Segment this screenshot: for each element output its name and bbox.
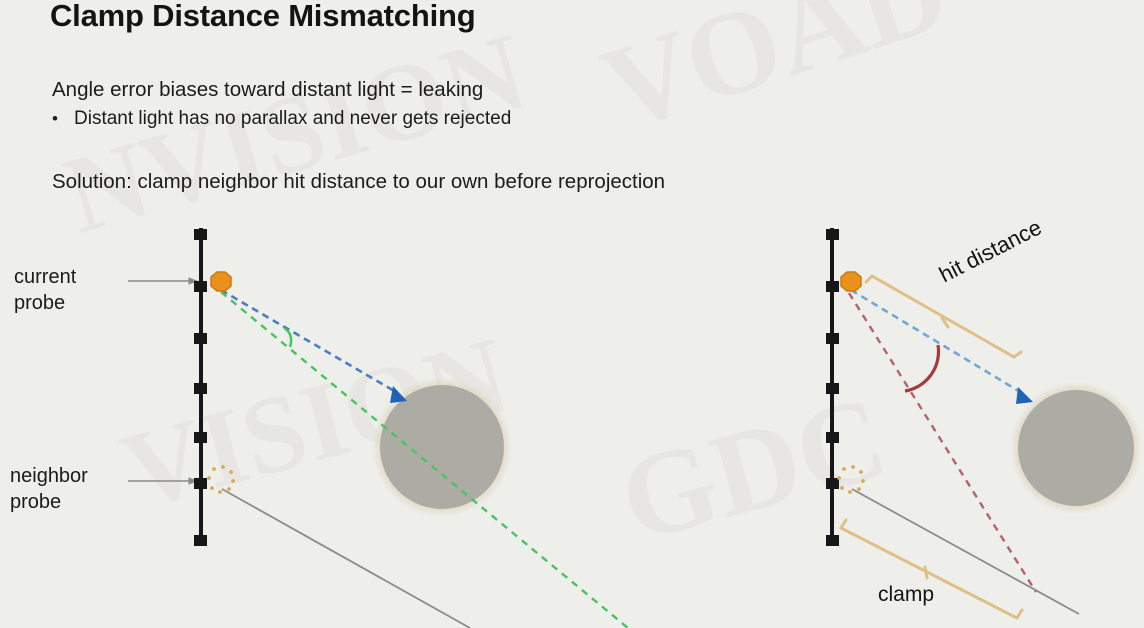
probe-marker-neighbor-left[interactable]: [207, 465, 235, 494]
bracket-clamp-tick: [925, 567, 927, 578]
wall-ticks-right: [826, 229, 839, 546]
ray-clamped-neighbor-right: [849, 293, 1036, 592]
wall-ticks-left: [194, 229, 207, 546]
diagram-left: [128, 228, 628, 628]
body-line-solution: Solution: clamp neighbor hit distance to…: [52, 170, 665, 194]
probe-marker-current-right[interactable]: [841, 272, 861, 291]
label-neighbor-probe: neighbor probe: [10, 463, 88, 516]
body-line-primary: Angle error biases toward distant light …: [52, 78, 483, 102]
probe-marker-current-left[interactable]: [211, 272, 231, 291]
angle-arc-right: [905, 345, 939, 391]
neighbor-ray-left: [222, 489, 470, 628]
sphere-glow-right: [1010, 382, 1142, 514]
ray-current-probe-left: [221, 290, 396, 392]
bullet-list-item: • Distant light has no parallax and neve…: [52, 108, 511, 130]
label-current-probe-line1: current: [14, 264, 76, 290]
label-current-probe: current probe: [14, 264, 76, 317]
ray-current-probe-arrowhead-left: [390, 386, 407, 403]
watermark-text: NVISION: [52, 8, 539, 260]
angle-error-marker-left: [284, 328, 291, 347]
label-clamp: clamp: [878, 583, 934, 607]
bracket-hit-distance-tick: [942, 318, 948, 327]
slide-canvas: VOAD NVISION GDC VISION Clamp Distance M…: [0, 0, 1144, 628]
bracket-hit-distance: [866, 276, 1021, 357]
label-current-probe-line2: probe: [14, 290, 76, 316]
diagram-right: [826, 228, 1142, 618]
ray-current-probe-arrowhead-right: [1016, 387, 1033, 404]
sphere-occluder-right: [1018, 390, 1134, 506]
label-neighbor-probe-line1: neighbor: [10, 463, 88, 489]
sphere-glow-left: [372, 377, 512, 517]
label-neighbor-probe-line2: probe: [10, 489, 88, 515]
ray-current-probe-right: [851, 290, 1022, 393]
bullet-item-text: Distant light has no parallax and never …: [74, 108, 511, 130]
watermark-text: VOAD: [587, 0, 963, 159]
bullet-marker-icon: •: [52, 110, 74, 127]
slide-title: Clamp Distance Mismatching: [50, 0, 475, 34]
label-hit-distance: hit distance: [935, 214, 1046, 288]
watermark-text: GDC: [607, 368, 900, 570]
probe-marker-neighbor-right[interactable]: [837, 465, 865, 494]
ray-neighbor-reprojected-left: [221, 292, 628, 628]
watermark-text: VISION: [110, 312, 521, 536]
sphere-occluder-left: [380, 385, 504, 509]
